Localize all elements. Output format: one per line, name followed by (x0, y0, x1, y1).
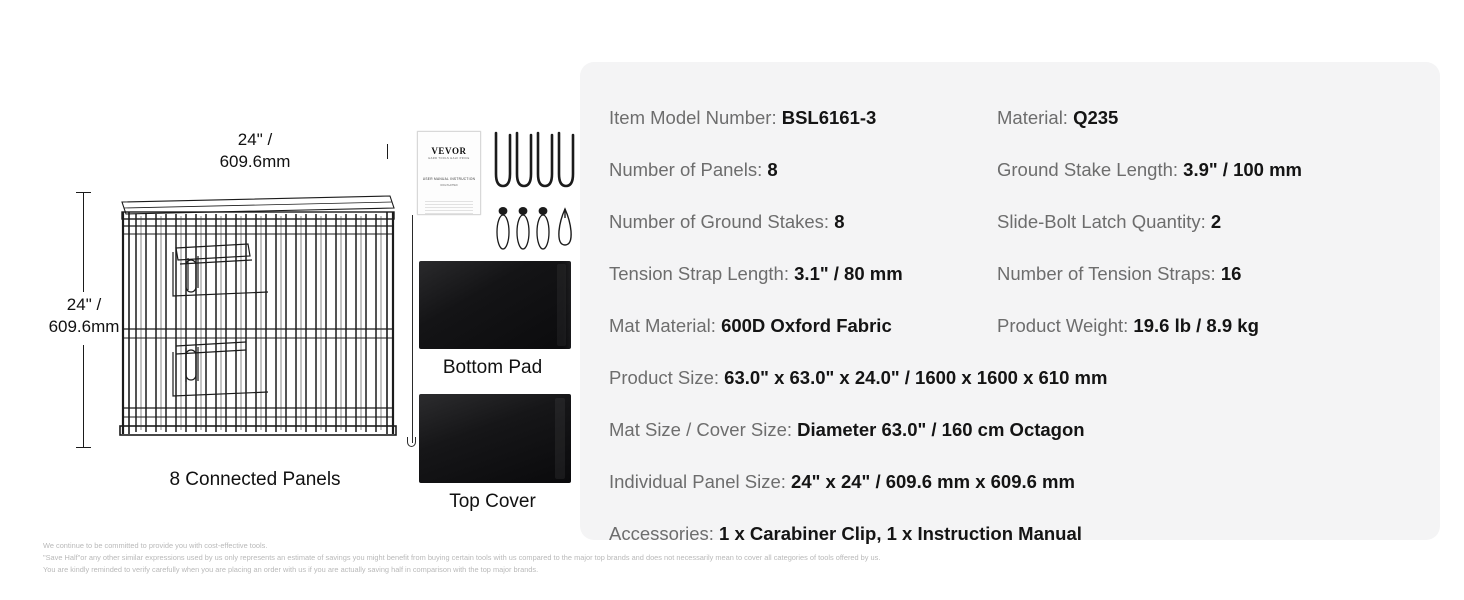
spec-value: 16 (1221, 263, 1242, 284)
spec-cell-right: Slide-Bolt Latch Quantity: 2 (997, 211, 1420, 233)
spec-value: 24" x 24" / 609.6 mm x 609.6 mm (791, 471, 1075, 492)
spec-cell-left: Item Model Number: BSL6161-3 (609, 107, 997, 129)
spec-row: Individual Panel Size: 24" x 24" / 609.6… (609, 456, 1420, 508)
disclaimer-line-1: We continue to be committed to provide y… (43, 541, 1143, 551)
spec-row: Tension Strap Length: 3.1" / 80 mmNumber… (609, 248, 1420, 300)
spec-row: Number of Ground Stakes: 8Slide-Bolt Lat… (609, 196, 1420, 248)
specification-panel: Item Model Number: BSL6161-3Material: Q2… (580, 62, 1440, 540)
tension-straps-and-carabiner-image (496, 204, 576, 252)
spec-cell-left: Number of Panels: 8 (609, 159, 997, 181)
ground-stakes-image (492, 130, 576, 192)
spec-cell-right: Number of Tension Straps: 16 (997, 263, 1420, 285)
spec-cell-right: Material: Q235 (997, 107, 1420, 129)
spec-value: BSL6161-3 (782, 107, 877, 128)
spec-cell-left: Mat Material: 600D Oxford Fabric (609, 315, 997, 337)
spec-row: Mat Material: 600D Oxford FabricProduct … (609, 300, 1420, 352)
spec-cell-left: Tension Strap Length: 3.1" / 80 mm (609, 263, 997, 285)
vevor-tagline: HARD TOOLS HALF PRICE (418, 157, 480, 160)
spec-row: Number of Panels: 8Ground Stake Length: … (609, 144, 1420, 196)
spec-value: 3.1" / 80 mm (794, 263, 903, 284)
spec-cell-full: Individual Panel Size: 24" x 24" / 609.6… (609, 471, 1420, 493)
manual-body-lines (425, 201, 473, 215)
width-dimension-label-line1: 24" / (218, 129, 292, 151)
specification-grid: Item Model Number: BSL6161-3Material: Q2… (609, 92, 1420, 560)
spec-cell-right: Ground Stake Length: 3.9" / 100 mm (997, 159, 1420, 181)
spec-label: Individual Panel Size: (609, 471, 791, 492)
spec-label: Mat Size / Cover Size: (609, 419, 797, 440)
top-cover-image (419, 394, 571, 483)
height-dimension-cap-bottom (76, 447, 91, 448)
height-dimension-label-line2: 609.6mm (49, 317, 120, 336)
manual-title: USER MANUAL INSTRUCTION (418, 177, 480, 181)
cage-right-edge-marker (412, 215, 413, 443)
spec-cell-full: Product Size: 63.0" x 63.0" x 24.0" / 16… (609, 367, 1420, 389)
spec-label: Item Model Number: (609, 107, 782, 128)
spec-value: 63.0" x 63.0" x 24.0" / 1600 x 1600 x 61… (724, 367, 1107, 388)
spec-label: Number of Ground Stakes: (609, 211, 834, 232)
spec-value: 2 (1211, 211, 1221, 232)
instruction-manual-image: VEVOR HARD TOOLS HALF PRICE USER MANUAL … (417, 131, 481, 215)
width-dimension-cap-right (387, 144, 388, 159)
spec-value: Q235 (1073, 107, 1118, 128)
spec-value: 8 (767, 159, 777, 180)
disclaimer-line-2: "Save Half"or any other similar expressi… (43, 553, 1143, 563)
height-dimension-cap-top (76, 192, 91, 193)
spec-value: 600D Oxford Fabric (721, 315, 892, 336)
caption-top-cover: Top Cover (400, 491, 585, 513)
spec-value: Diameter 63.0" / 160 cm Octagon (797, 419, 1084, 440)
spec-label: Number of Panels: (609, 159, 767, 180)
height-dimension-line-lower (83, 345, 84, 447)
spec-label: Product Size: (609, 367, 724, 388)
product-diagram-area: 24" / 609.6mm 24" / 609.6mm (0, 0, 580, 535)
spec-value: 3.9" / 100 mm (1183, 159, 1302, 180)
spec-label: Tension Strap Length: (609, 263, 794, 284)
disclaimer-block: We continue to be committed to provide y… (43, 541, 1143, 577)
spec-row: Item Model Number: BSL6161-3Material: Q2… (609, 92, 1420, 144)
height-dimension-label-line1: 24" / (67, 295, 101, 314)
spec-label: Ground Stake Length: (997, 159, 1183, 180)
spec-row: Product Size: 63.0" x 63.0" x 24.0" / 16… (609, 352, 1420, 404)
vevor-logo: VEVOR (418, 146, 480, 156)
width-dimension-label: 24" / 609.6mm (123, 129, 387, 173)
spec-cell-full: Mat Size / Cover Size: Diameter 63.0" / … (609, 419, 1420, 441)
width-dimension-label-line2: 609.6mm (123, 151, 387, 173)
spec-row: Mat Size / Cover Size: Diameter 63.0" / … (609, 404, 1420, 456)
caption-connected-panels: 8 Connected Panels (110, 469, 400, 491)
spec-label: Slide-Bolt Latch Quantity: (997, 211, 1211, 232)
spec-label: Mat Material: (609, 315, 721, 336)
wire-cage-illustration (118, 186, 398, 444)
spec-cell-right: Product Weight: 19.6 lb / 8.9 kg (997, 315, 1420, 337)
spec-label: Number of Tension Straps: (997, 263, 1221, 284)
disclaimer-line-3: You are kindly reminded to verify carefu… (43, 565, 1143, 575)
spec-label: Product Weight: (997, 315, 1133, 336)
height-dimension-line-upper (83, 192, 84, 292)
manual-subtitle: DOG PLAYPEN (418, 184, 480, 187)
bottom-pad-image (419, 261, 571, 349)
spec-value: 19.6 lb / 8.9 kg (1133, 315, 1258, 336)
spec-value: 8 (834, 211, 844, 232)
spec-label: Material: (997, 107, 1073, 128)
carabiner-clip-icon (559, 209, 571, 245)
cage-hook-icon (407, 437, 416, 447)
caption-bottom-pad: Bottom Pad (400, 357, 585, 379)
spec-cell-left: Number of Ground Stakes: 8 (609, 211, 997, 233)
